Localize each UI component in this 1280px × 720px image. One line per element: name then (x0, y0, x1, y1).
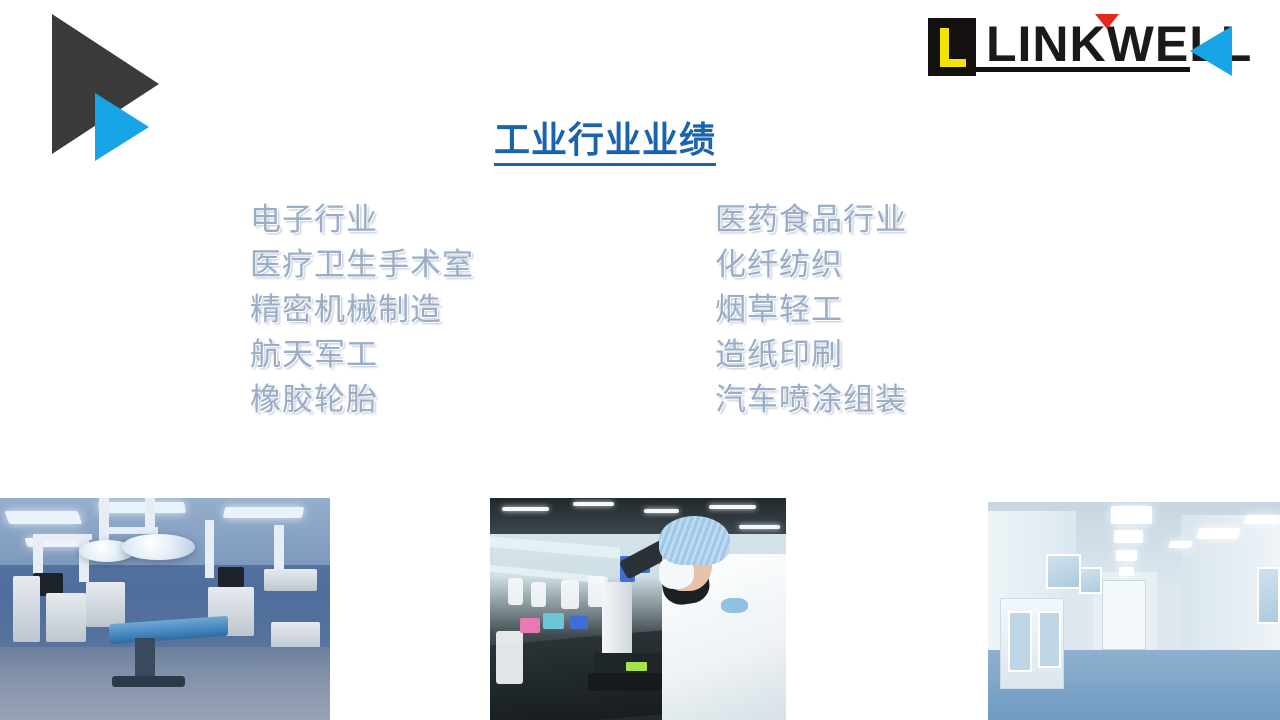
list-item: 航天军工 (250, 333, 474, 378)
list-item: 医疗卫生手术室 (250, 243, 474, 288)
industry-column-right: 医药食品行业 化纤纺织 烟草轻工 造纸印刷 汽车喷涂组装 (715, 198, 907, 423)
logo-blue-triangle-icon (1190, 26, 1232, 76)
industry-lists: 电子行业 医疗卫生手术室 精密机械制造 航天军工 橡胶轮胎 医药食品行业 化纤纺… (0, 198, 1280, 438)
list-item: 精密机械制造 (250, 288, 474, 333)
page-title: 工业行业业绩 (0, 118, 1210, 166)
brand-logo: LINKWELL (928, 14, 1228, 76)
logo-underline-bar (932, 67, 1190, 72)
list-item: 化纤纺织 (715, 243, 907, 288)
list-item: 烟草轻工 (715, 288, 907, 333)
page-title-text: 工业行业业绩 (494, 118, 716, 166)
photo-cleanroom (988, 502, 1280, 720)
list-item: 造纸印刷 (715, 333, 907, 378)
logo-letter-l-icon (940, 28, 966, 68)
red-triangle-icon (1095, 14, 1119, 29)
list-item: 电子行业 (250, 198, 474, 243)
list-item: 医药食品行业 (715, 198, 907, 243)
photo-operating-room (0, 498, 330, 720)
industry-column-left: 电子行业 医疗卫生手术室 精密机械制造 航天军工 橡胶轮胎 (250, 198, 474, 423)
photo-laboratory (490, 498, 786, 720)
list-item: 汽车喷涂组装 (715, 378, 907, 423)
decorative-play-arrows (0, 0, 220, 200)
list-item: 橡胶轮胎 (250, 378, 474, 423)
